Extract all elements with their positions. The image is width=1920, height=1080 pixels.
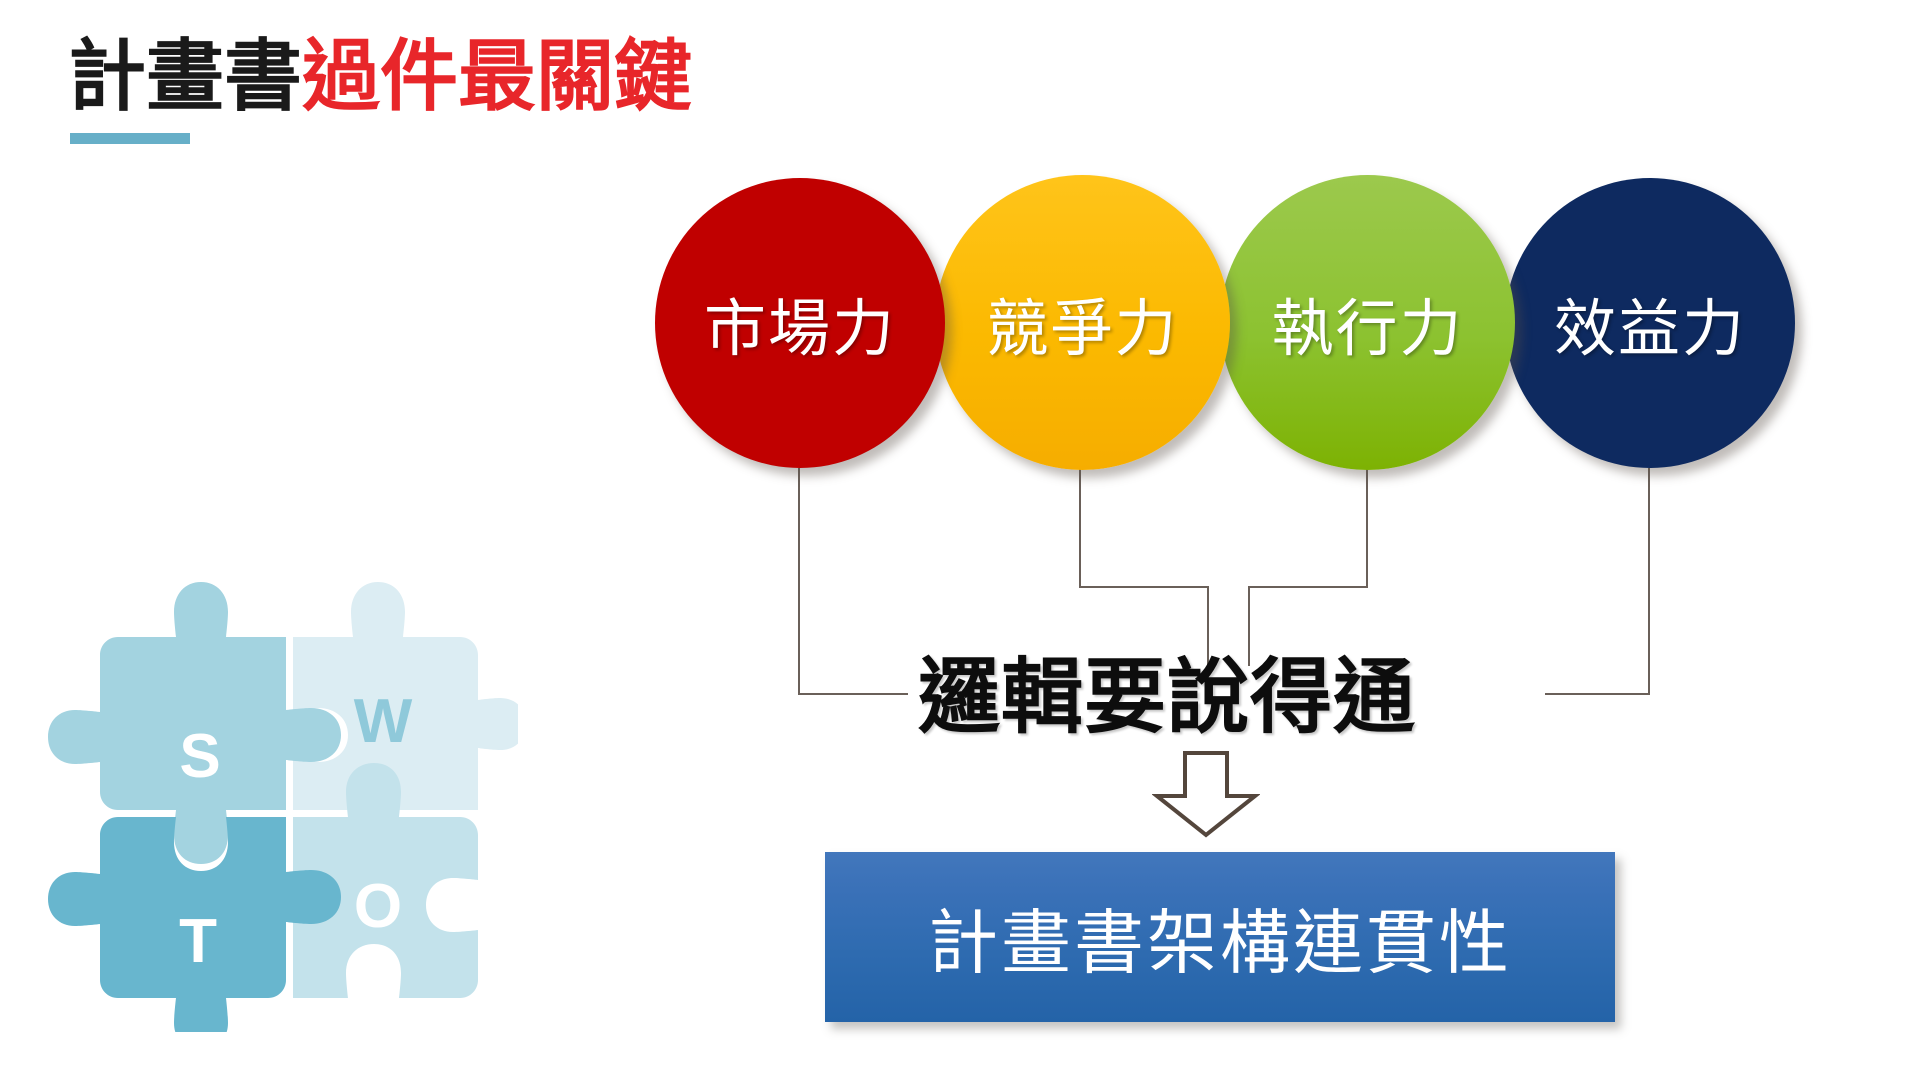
connector-market-horizontal	[798, 693, 908, 695]
circle-execute-label: 執行力	[1271, 278, 1463, 368]
title-underline-rule	[70, 133, 190, 144]
circle-benefit[interactable]: 效益力	[1505, 178, 1795, 468]
connector-execute-vertical-top	[1366, 468, 1368, 588]
result-box[interactable]: 計畫書架構連貫性	[825, 852, 1615, 1022]
circle-market-label: 市場力	[704, 278, 896, 368]
page-title: 計畫書過件最關鍵	[68, 36, 692, 119]
swot-letter-s: S	[179, 722, 220, 791]
result-box-label: 計畫書架構連貫性	[928, 887, 1512, 988]
circle-compete-label: 競爭力	[986, 278, 1178, 368]
swot-puzzle-graphic: W S O T	[48, 572, 518, 1032]
swot-letter-w: W	[354, 687, 413, 756]
connector-compete-vertical-top	[1079, 468, 1081, 588]
connector-benefit-vertical	[1648, 468, 1650, 695]
connector-benefit-horizontal	[1545, 693, 1650, 695]
circle-execute[interactable]: 執行力	[1220, 175, 1515, 470]
connector-compete-horizontal	[1079, 586, 1209, 588]
swot-letter-o: O	[354, 872, 402, 941]
circle-benefit-label: 效益力	[1554, 278, 1746, 368]
title-segment-red: 過件最關鍵	[302, 32, 692, 122]
slide-canvas: 計畫書過件最關鍵 市場力 競爭力 執行力 效益力 邏輯要說得通 計畫書架構連貫性…	[0, 0, 1920, 1080]
swot-letter-t: T	[179, 907, 217, 976]
circle-market[interactable]: 市場力	[655, 178, 945, 468]
connector-execute-horizontal	[1248, 586, 1368, 588]
headline-text: 邏輯要說得通	[918, 630, 1416, 749]
swot-piece-w: W	[293, 582, 518, 810]
circle-compete[interactable]: 競爭力	[935, 175, 1230, 470]
title-segment-black: 計畫書	[68, 32, 302, 122]
connector-market-vertical	[798, 468, 800, 695]
down-arrow-icon	[1152, 750, 1260, 838]
